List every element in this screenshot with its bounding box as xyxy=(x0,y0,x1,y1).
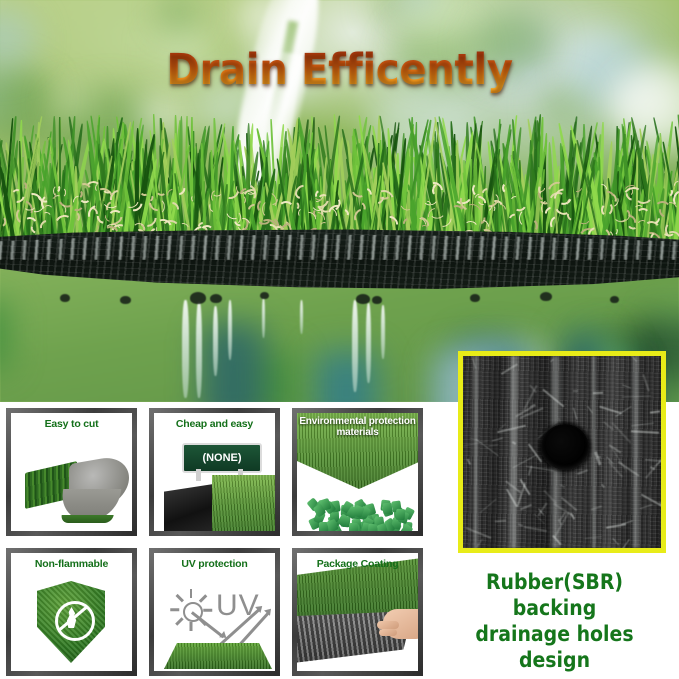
rubber-caption-line-2: drainage holes design xyxy=(442,621,666,673)
rubber-scratch xyxy=(665,529,666,551)
feature-label: Non-flammable xyxy=(11,558,132,570)
water-stream xyxy=(213,306,218,376)
rubber-scratch xyxy=(650,410,661,413)
feature-card-uv-protection[interactable]: UV protection UV xyxy=(149,548,280,676)
rubber-scratch xyxy=(577,469,588,475)
feature-label: Environmental protection materials xyxy=(297,416,418,438)
rubber-scratch xyxy=(642,374,650,392)
feature-label: Cheap and easy xyxy=(154,418,275,430)
rubber-scratch xyxy=(640,504,653,509)
uv-label: UV xyxy=(216,589,260,623)
water-stream xyxy=(352,300,358,392)
rubber-ridge xyxy=(509,356,519,548)
feature-card-cheap-and-easy[interactable]: Cheap and easy (NONE) xyxy=(149,408,280,536)
water-stream xyxy=(196,302,202,398)
water-stream xyxy=(381,305,385,359)
feature-label: Package Coating xyxy=(297,558,418,570)
bokeh-blob xyxy=(159,0,198,29)
rubber-scratch xyxy=(573,407,577,419)
sun-ray xyxy=(203,609,212,612)
plastic-pellets xyxy=(309,499,413,533)
rolled-turf-illustration xyxy=(25,449,130,521)
rubber-scratch xyxy=(616,539,629,553)
turf-roll-edge xyxy=(60,515,113,523)
page-title: Drain Efficently xyxy=(20,45,658,95)
rubber-ridge xyxy=(473,356,479,548)
bokeh-blob-lower xyxy=(201,323,265,402)
product-infographic: Drain Efficently Rubber(SBR) backing dra… xyxy=(0,0,679,679)
water-droplet xyxy=(356,294,370,304)
rubber-scratch xyxy=(492,438,503,442)
water-droplet xyxy=(60,294,70,302)
water-droplet xyxy=(610,296,619,303)
water-droplet xyxy=(540,292,552,301)
rubber-scratch xyxy=(665,377,666,394)
plastic-pellet xyxy=(383,502,393,514)
none-sign: (NONE) xyxy=(182,443,262,473)
rubber-scratch xyxy=(612,538,619,546)
water-droplet xyxy=(470,294,480,302)
thatch-curl xyxy=(662,224,675,237)
water-droplet xyxy=(210,294,222,303)
sun-ray xyxy=(190,622,193,631)
feature-card-package-coating[interactable]: Package Coating xyxy=(292,548,423,676)
none-sign-text: (NONE) xyxy=(202,452,241,464)
turf-swatch xyxy=(212,475,276,531)
sun-ray xyxy=(199,594,207,602)
rubber-scratch xyxy=(645,459,666,462)
rubber-scratch xyxy=(597,455,601,458)
feature-label: Easy to cut xyxy=(11,418,132,430)
sun-ray xyxy=(170,609,179,612)
water-stream xyxy=(300,300,303,334)
rubber-scratch xyxy=(518,523,523,526)
water-droplet xyxy=(260,292,269,299)
water-droplet xyxy=(372,296,382,304)
water-droplet xyxy=(190,292,206,304)
thatch-curl xyxy=(636,207,650,221)
plastic-pellet xyxy=(396,509,406,521)
rubber-scratch xyxy=(570,513,575,520)
rubber-scratch xyxy=(601,484,605,489)
rubber-scratch xyxy=(524,526,547,532)
rubber-scratch xyxy=(464,354,466,358)
bokeh-blob-lower xyxy=(0,300,10,370)
rubber-scratch xyxy=(495,520,506,523)
feature-card-non-flammable[interactable]: Non-flammable xyxy=(6,548,137,676)
water-droplet xyxy=(120,296,131,304)
water-stream xyxy=(228,300,232,360)
feature-grid: Easy to cut Cheap and easy (NONE) Enviro… xyxy=(6,408,426,676)
sun-ray xyxy=(175,594,183,602)
finger-1 xyxy=(377,621,399,629)
rubber-backing-photo xyxy=(458,351,666,553)
water-stream xyxy=(366,303,371,383)
sun-ray xyxy=(190,589,193,598)
rubber-scratch xyxy=(467,459,471,465)
finger-2 xyxy=(379,629,397,636)
rubber-backing-caption: Rubber(SBR) backing drainage holes desig… xyxy=(442,569,666,673)
water-stream xyxy=(262,298,265,338)
sign-post-left xyxy=(196,469,201,481)
thatch-curl xyxy=(148,198,165,215)
rubber-scratch xyxy=(520,504,532,510)
rubber-scratch xyxy=(480,498,497,513)
turf-ground xyxy=(164,643,272,669)
turf-slab xyxy=(0,108,679,308)
feature-label: UV protection xyxy=(154,558,275,570)
drainage-hole xyxy=(541,424,589,470)
thatch-curl xyxy=(16,180,27,191)
water-stream xyxy=(182,300,189,398)
rubber-scratch xyxy=(593,392,603,395)
feature-card-environmental-protection-materials[interactable]: Environmental protection materials xyxy=(292,408,423,536)
rubber-scratch xyxy=(573,390,578,392)
feature-card-easy-to-cut[interactable]: Easy to cut xyxy=(6,408,137,536)
plastic-pellet xyxy=(349,523,358,534)
sun-ray xyxy=(175,618,183,626)
rubber-scratch xyxy=(612,423,632,444)
turf-blades xyxy=(0,108,679,240)
rubber-scratch xyxy=(488,445,498,447)
rubber-caption-line-1: Rubber(SBR) backing xyxy=(442,569,666,621)
rubber-scratch xyxy=(622,384,631,388)
